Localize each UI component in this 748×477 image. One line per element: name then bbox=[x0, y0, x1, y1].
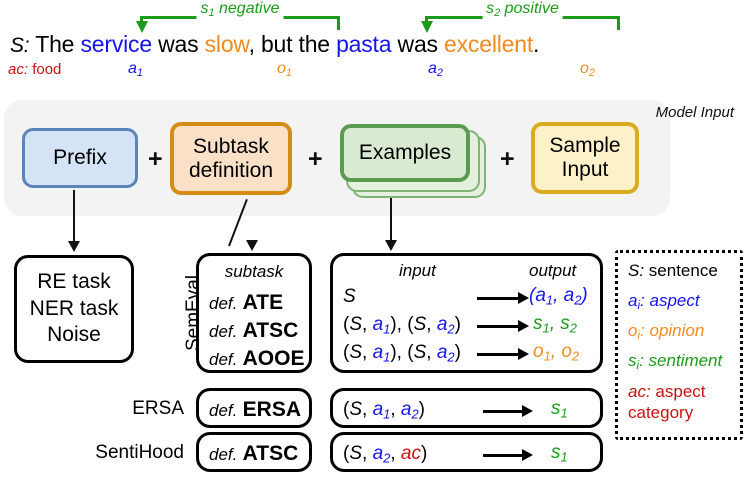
io-output-sentihood: s1 bbox=[551, 442, 568, 465]
token-opinion-2: excellent bbox=[444, 31, 533, 57]
token-0: The bbox=[35, 31, 80, 57]
def-row-ersa: def. ERSA bbox=[209, 398, 301, 422]
bracket-label-s1: s1 negative bbox=[196, 0, 283, 19]
legend-box: S: sentence ai: aspect oi: opinion si: s… bbox=[615, 250, 743, 440]
io-output-2: s1, s2 bbox=[533, 313, 577, 336]
bracket-right-tick bbox=[337, 16, 340, 30]
io-arrow-1 bbox=[477, 297, 519, 300]
aspect-category-annotation: ac: food bbox=[8, 61, 61, 78]
sentence-prefix-label: S: bbox=[10, 34, 29, 57]
connector-prefix bbox=[73, 190, 75, 243]
def-row-aooe: def. AOOE bbox=[209, 347, 304, 371]
token-aspect-1: service bbox=[80, 31, 151, 57]
plus-sign-2: + bbox=[308, 145, 323, 174]
legend-item-sentence: S: sentence bbox=[628, 261, 718, 281]
output-column-header: output bbox=[529, 261, 576, 281]
bracket-label-s2: s2 positive bbox=[482, 0, 563, 19]
io-output-1: (a1, a2) bbox=[529, 285, 588, 308]
ersa-definition-box: def. ERSA bbox=[196, 388, 312, 428]
io-output-ersa: s1 bbox=[551, 398, 568, 421]
def-row-atsc: def. ATSC bbox=[209, 319, 298, 343]
bracket-right-tick bbox=[617, 16, 620, 30]
example-sentence: S: The service was slow, but the pasta w… bbox=[10, 31, 539, 58]
input-column-header: input bbox=[399, 261, 436, 281]
io-input-3: (S, a1), (S, a2) bbox=[343, 342, 461, 365]
examples-box-label: Examples bbox=[359, 141, 451, 165]
io-input-sentihood: (S, a2, ac) bbox=[343, 443, 427, 466]
sample-box-label-line2: Input bbox=[562, 158, 609, 181]
task-line-3: Noise bbox=[47, 322, 101, 349]
prefix-box[interactable]: Prefix bbox=[22, 128, 138, 188]
legend-item-aspect: ai: aspect bbox=[628, 291, 700, 312]
io-arrow-ersa bbox=[483, 410, 523, 413]
sample-input-box[interactable]: SampleInput bbox=[531, 122, 639, 194]
sentihood-definition-box: def. ATSC bbox=[196, 432, 312, 472]
io-arrow-2 bbox=[477, 325, 519, 328]
legend-item-sentiment: si: sentiment bbox=[628, 351, 722, 372]
subtask-column-header: subtask bbox=[199, 262, 309, 282]
legend-item-aspect-category: ac: aspect category bbox=[628, 381, 740, 424]
marker-a2: a2 bbox=[428, 60, 443, 79]
semeval-subtask-definitions-box: subtask def. ATE def. ATSC def. AOOE bbox=[196, 253, 312, 373]
token-6: was bbox=[391, 31, 444, 57]
legend-item-opinion: oi: opinion bbox=[628, 321, 704, 342]
aspect-category-label: ac: bbox=[8, 61, 28, 78]
def-row-sentihood: def. ATSC bbox=[209, 442, 298, 466]
prefix-box-label: Prefix bbox=[53, 146, 107, 170]
subtask-box-label-line1: Subtask bbox=[193, 135, 269, 158]
token-4: , but the bbox=[249, 31, 337, 57]
sentihood-input-output-box: (S, a2, ac) s1 bbox=[330, 432, 603, 472]
task-line-1: RE task bbox=[37, 269, 111, 296]
io-arrow-3 bbox=[477, 353, 519, 356]
token-opinion-1: slow bbox=[205, 31, 249, 57]
plus-sign-1: + bbox=[148, 145, 163, 174]
subtask-definition-box[interactable]: Subtaskdefinition bbox=[170, 122, 292, 195]
io-input-1: S bbox=[343, 286, 356, 308]
dataset-label-sentihood: SentiHood bbox=[44, 442, 184, 464]
noise-tasks-box: RE task NER task Noise bbox=[14, 255, 134, 363]
io-input-2: (S, a1), (S, a2) bbox=[343, 314, 461, 337]
semeval-input-output-box: input output S (a1, a2) (S, a1), (S, a2)… bbox=[330, 253, 603, 373]
bracket-annotation-s2: s2 positive bbox=[425, 2, 620, 32]
subtask-box-label-line2: definition bbox=[189, 159, 273, 182]
dataset-label-ersa: ERSA bbox=[64, 398, 184, 420]
ersa-input-output-box: (S, a1, a2) s1 bbox=[330, 388, 603, 428]
model-input-caption: Model Input bbox=[656, 104, 734, 121]
io-input-ersa: (S, a1, a2) bbox=[343, 399, 425, 422]
io-output-3: o1, o2 bbox=[533, 341, 579, 364]
marker-a1: a1 bbox=[128, 60, 143, 79]
sample-box-label-line1: Sample bbox=[549, 134, 620, 157]
aspect-category-value: food bbox=[32, 61, 61, 78]
plus-sign-3: + bbox=[500, 145, 515, 174]
marker-o1: o1 bbox=[277, 60, 292, 79]
marker-o2: o2 bbox=[580, 60, 595, 79]
bracket-annotation-s1: s1 negative bbox=[140, 2, 340, 32]
task-line-2: NER task bbox=[30, 296, 119, 323]
connector-prefix-arrowhead bbox=[68, 241, 80, 252]
token-8: . bbox=[533, 31, 539, 57]
io-arrow-sentihood bbox=[483, 454, 523, 457]
token-aspect-2: pasta bbox=[336, 31, 391, 57]
examples-box[interactable]: Examples bbox=[340, 124, 470, 182]
connector-examples-arrowhead bbox=[385, 240, 397, 251]
def-row-ate: def. ATE bbox=[209, 291, 283, 315]
token-2: was bbox=[152, 31, 205, 57]
